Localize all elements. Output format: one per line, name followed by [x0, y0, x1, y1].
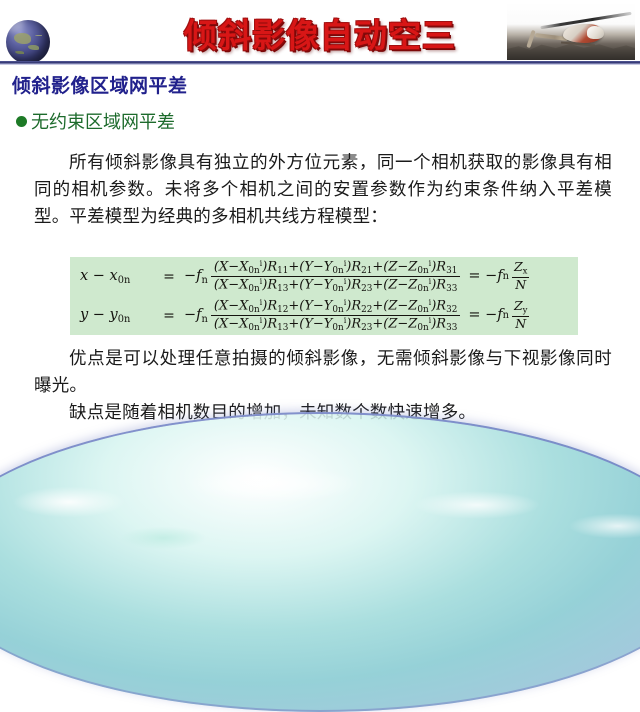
equation-y-tail: = −fn Zy N [468, 299, 530, 331]
paragraph-intro: 所有倾斜影像具有独立的外方位元素，同一个相机获取的影像具有相同的相机参数。未将多… [34, 150, 612, 231]
bullet-item-label: 无约束区域网平差 [31, 108, 175, 134]
equation-x-tail-denominator: N [512, 277, 529, 293]
equation-y-equals: = [154, 308, 184, 324]
equation-row-y: y − y0n = −fn (X−X0ni)R12+(Y−Y0ni)R22+(Z… [80, 296, 568, 335]
equation-x-tail-fraction: Zx N [511, 260, 530, 292]
equation-y-denominator: (X−X0ni)R13+(Y−Y0ni)R23+(Z−Z0ni)R33 [211, 315, 460, 333]
equation-y-coefficient: −fn [184, 307, 208, 325]
bullet-item-unconstrained-adjustment: 无约束区域网平差 [16, 108, 175, 134]
green-dot-bullet-icon [16, 116, 27, 127]
equation-x-tail: = −fn Zx N [468, 260, 530, 292]
equation-x-fraction: (X−X0ni)R11+(Y−Y0ni)R21+(Z−Z0ni)R31 (X−X… [211, 259, 460, 295]
slide-header: 倾斜影像自动空三 [0, 0, 640, 64]
equation-x-tail-numerator: Zx [511, 260, 530, 276]
equation-row-x: x − x0n = −fn (X−X0ni)R11+(Y−Y0ni)R21+(Z… [80, 257, 568, 296]
earth-horizon-rim [0, 412, 640, 712]
paragraph-advantages: 优点是可以处理任意拍摄的倾斜影像，无需倾斜影像与下视影像同时曝光。 [34, 346, 612, 400]
equation-y-tail-denominator: N [512, 316, 529, 332]
equation-x-equals: = [154, 269, 184, 285]
section-heading: 倾斜影像区域网平差 [12, 71, 188, 98]
equation-y-fraction: (X−X0ni)R12+(Y−Y0ni)R22+(Z−Z0ni)R32 (X−X… [211, 298, 460, 334]
equation-y-tail-numerator: Zy [511, 299, 531, 315]
equation-x-lhs: x − x0n [80, 268, 154, 286]
page-title: 倾斜影像自动空三 [0, 9, 640, 57]
equation-y-lhs: y − y0n [80, 307, 154, 325]
equation-y-numerator: (X−X0ni)R12+(Y−Y0ni)R22+(Z−Z0ni)R32 [211, 298, 460, 315]
equation-x-coefficient: −fn [184, 268, 208, 286]
equation-y-tail-fraction: Zy N [511, 299, 531, 331]
header-divider-light [0, 64, 640, 65]
equation-x-denominator: (X−X0ni)R13+(Y−Y0ni)R23+(Z−Z0ni)R33 [211, 276, 460, 294]
collinearity-equation-box: x − x0n = −fn (X−X0ni)R11+(Y−Y0ni)R21+(Z… [70, 257, 578, 335]
equation-x-numerator: (X−X0ni)R11+(Y−Y0ni)R21+(Z−Z0ni)R31 [211, 259, 460, 276]
